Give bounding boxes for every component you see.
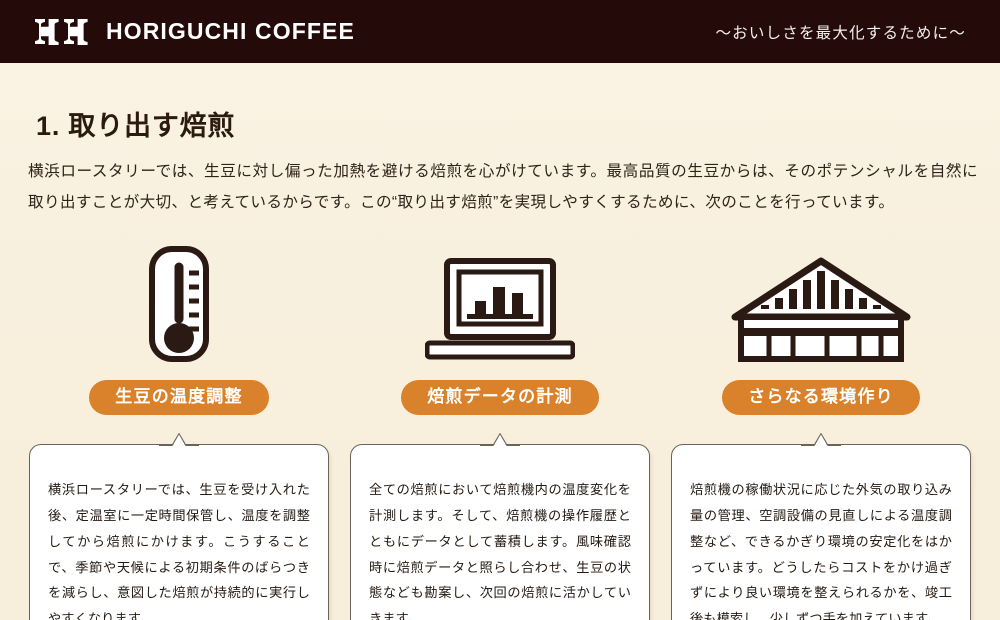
note-text: 焙煎機の稼働状況に応じた外気の取り込み量の管理、空調設備の見直しによる温度調整な… — [690, 477, 952, 620]
page-title: 1. 取り出す焙煎 — [36, 104, 235, 143]
feature-column-environment: さらなる環境作り 焙煎機の稼働状況に応じた外気の取り込み量の管理、空調設備の見直… — [670, 243, 972, 620]
site-header: HORIGUCHI COFFEE 〜おいしさを最大化するために〜 — [0, 0, 1000, 63]
badge-temperature-control[interactable]: 生豆の温度調整 — [89, 380, 268, 415]
bubble-tail-icon — [480, 433, 520, 446]
intro-paragraph: 横浜ロースタリーでは、生豆に対し偏った加熱を避ける焙煎を心がけています。最高品質… — [28, 156, 978, 218]
roastery-building-icon — [731, 243, 911, 363]
bubble-tail-icon — [159, 433, 199, 446]
laptop-bar-chart-icon — [425, 243, 575, 363]
note-text: 全ての焙煎において焙煎機内の温度変化を計測します。そして、焙煎機の操作履歴ととも… — [369, 477, 631, 620]
thermometer-icon — [138, 243, 220, 363]
header-tagline: 〜おいしさを最大化するために〜 — [715, 21, 966, 43]
slide-root: HORIGUCHI COFFEE 〜おいしさを最大化するために〜 1. 取り出す… — [0, 0, 1000, 620]
feature-column-temperature: 生豆の温度調整 横浜ロースタリーでは、生豆を受け入れた後、定温室に一定時間保管し… — [28, 243, 330, 620]
feature-columns: 生豆の温度調整 横浜ロースタリーでは、生豆を受け入れた後、定温室に一定時間保管し… — [0, 243, 1000, 620]
brand-name: HORIGUCHI COFFEE — [106, 18, 355, 45]
badge-further-environment[interactable]: さらなる環境作り — [722, 380, 920, 415]
note-text: 横浜ロースタリーでは、生豆を受け入れた後、定温室に一定時間保管し、温度を調整して… — [48, 477, 310, 620]
bubble-tail-icon — [801, 433, 841, 446]
brand-lockup: HORIGUCHI COFFEE — [34, 16, 355, 48]
feature-column-data: 焙煎データの計測 全ての焙煎において焙煎機内の温度変化を計測します。そして、焙煎… — [349, 243, 651, 620]
horiguchi-double-ibeam-mark-icon — [34, 16, 90, 48]
badge-roast-data-measurement[interactable]: 焙煎データの計測 — [401, 380, 599, 415]
note-card-environment: 焙煎機の稼働状況に応じた外気の取り込み量の管理、空調設備の見直しによる温度調整な… — [671, 444, 971, 620]
note-card-data: 全ての焙煎において焙煎機内の温度変化を計測します。そして、焙煎機の操作履歴ととも… — [350, 444, 650, 620]
note-card-temperature: 横浜ロースタリーでは、生豆を受け入れた後、定温室に一定時間保管し、温度を調整して… — [29, 444, 329, 620]
